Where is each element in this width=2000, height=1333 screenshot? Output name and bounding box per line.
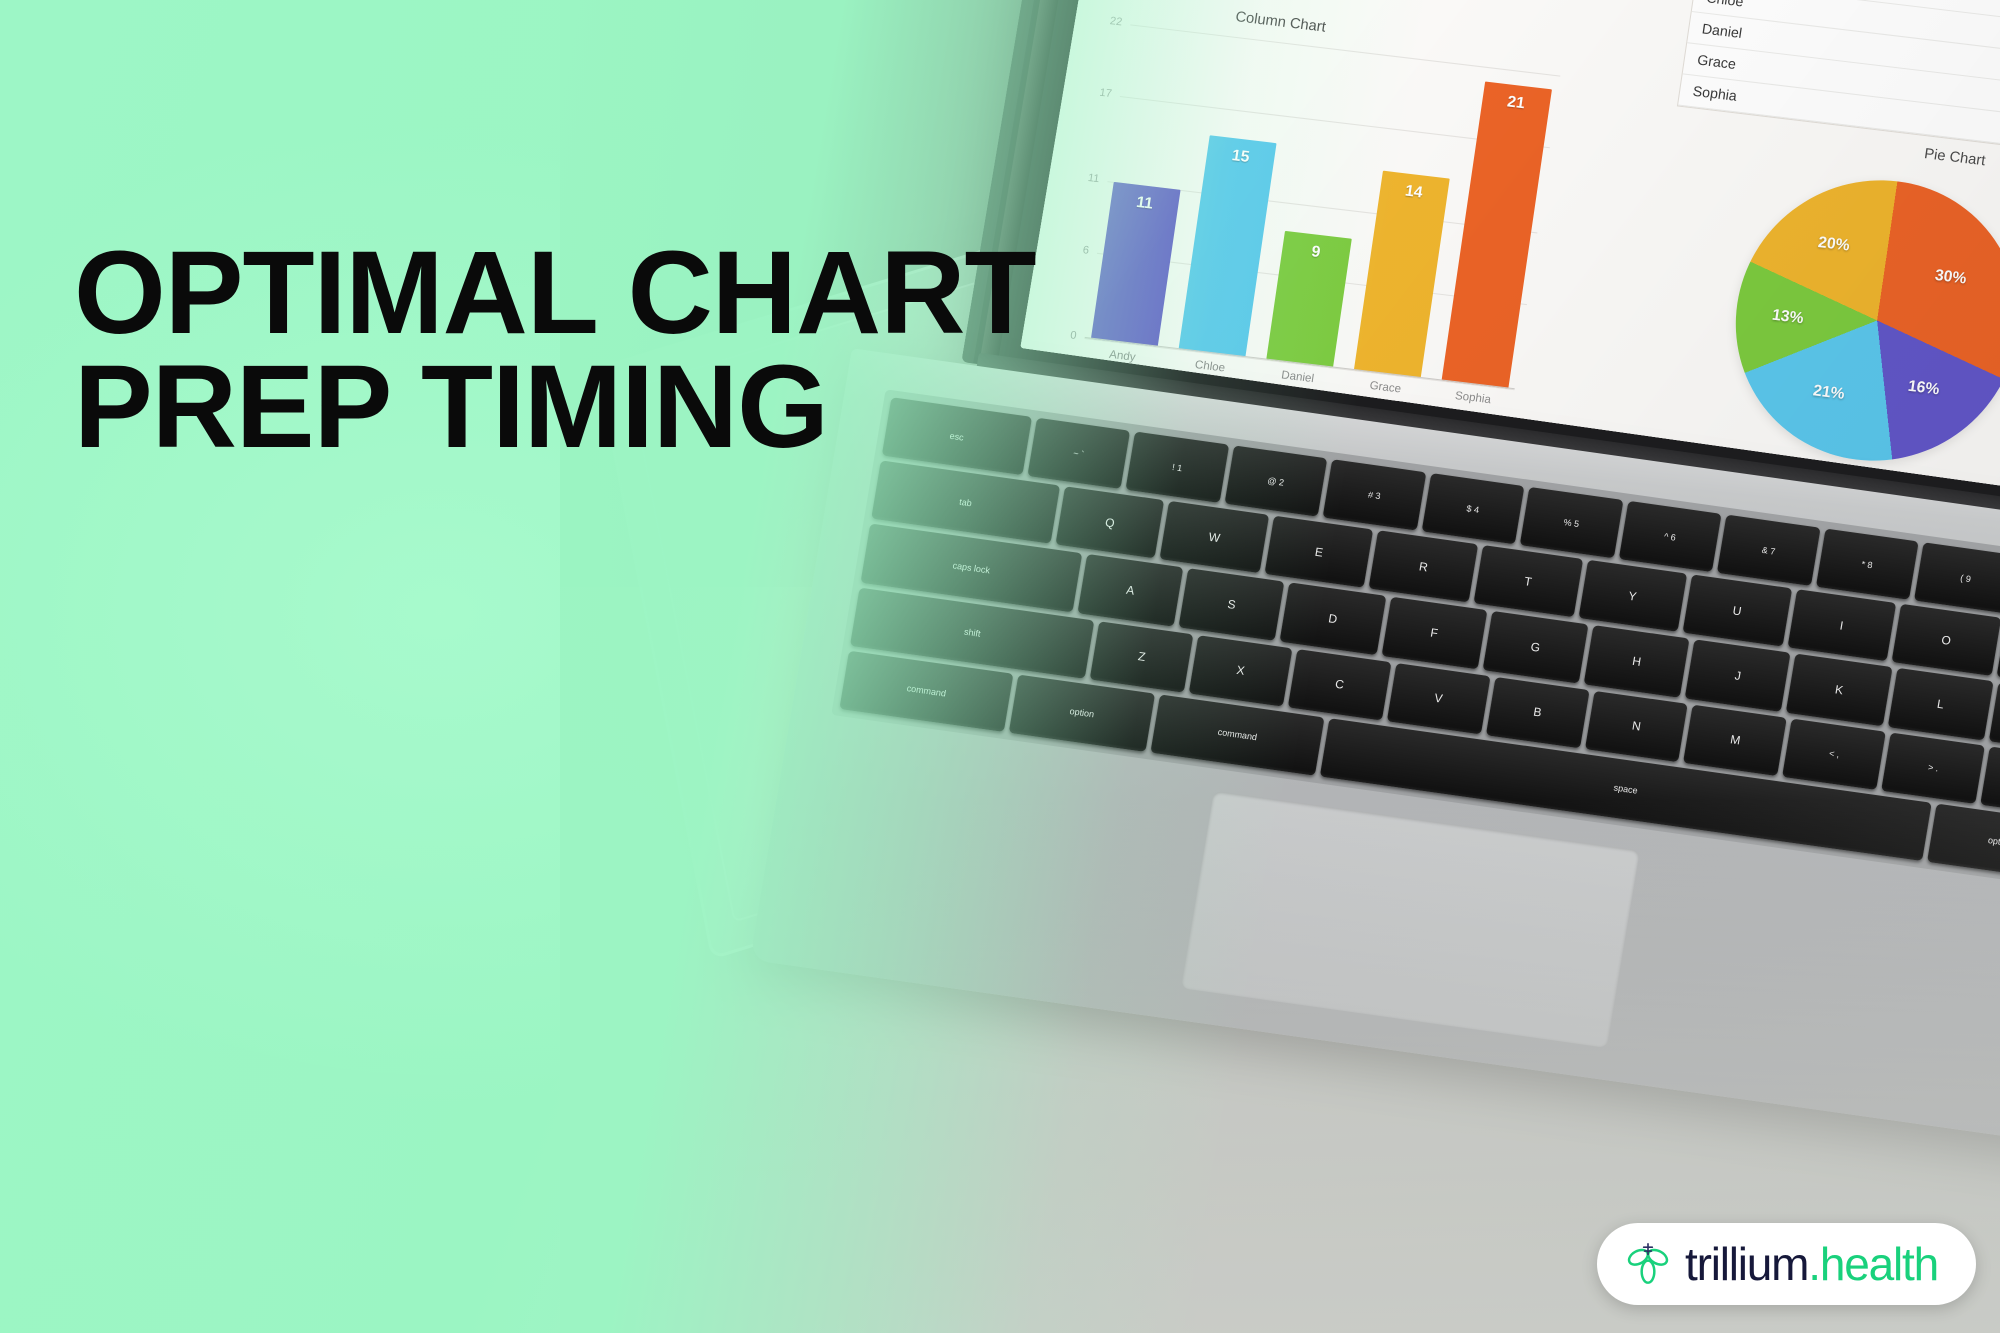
- key-h[interactable]: H: [1584, 625, 1690, 697]
- key-s[interactable]: S: [1179, 569, 1285, 641]
- key-3[interactable]: # 3: [1323, 459, 1426, 531]
- y-axis-tick: 17: [1073, 83, 1112, 100]
- key-k[interactable]: K: [1786, 654, 1892, 726]
- headline-line-2: PREP TIMING: [74, 350, 1036, 464]
- key-x[interactable]: X: [1189, 635, 1293, 707]
- fundraiser-table[interactable]: Fundraiser Results PARTICIPANT Andy Chlo…: [1677, 0, 2000, 152]
- key-j[interactable]: J: [1685, 640, 1791, 712]
- key-9[interactable]: ( 9: [1914, 542, 2000, 614]
- y-axis-tick: 6: [1050, 240, 1089, 257]
- page-title: OPTIMAL CHART PREP TIMING: [74, 236, 1036, 465]
- bar-value-label: 15: [1206, 144, 1275, 170]
- column-chart-plot: 06111722 11Andy15Chloe9Daniel14Grace21So…: [1085, 24, 1561, 389]
- key-m[interactable]: M: [1683, 704, 1787, 776]
- key-c[interactable]: C: [1288, 649, 1392, 721]
- y-axis-tick: 22: [1084, 12, 1123, 29]
- key-6[interactable]: ^ 6: [1618, 501, 1721, 573]
- laptop-device: View Zoom fx ⌄ Formula: [917, 0, 2000, 822]
- key-2[interactable]: @ 2: [1224, 445, 1327, 517]
- key-4[interactable]: $ 4: [1421, 473, 1524, 545]
- key-t[interactable]: T: [1473, 545, 1582, 617]
- key-e[interactable]: E: [1264, 516, 1373, 588]
- logo-text-dark: trillium: [1685, 1238, 1808, 1290]
- pie-chart[interactable]: Pie Chart 30%16%21%13%20%: [1703, 124, 2000, 487]
- x-axis-tick: Sophia: [1439, 388, 1508, 408]
- key-v[interactable]: V: [1387, 663, 1491, 735]
- bar: 15: [1179, 135, 1277, 357]
- key-r[interactable]: R: [1369, 531, 1478, 603]
- column-chart-title: Column Chart: [1234, 7, 1327, 34]
- key-1[interactable]: ! 1: [1126, 432, 1229, 504]
- pie-chart-title: Pie Chart: [1923, 145, 1986, 169]
- key-[interactable]: > .: [1881, 732, 1985, 804]
- key-l[interactable]: L: [1887, 668, 1993, 740]
- logo-text-accent: .health: [1808, 1238, 1938, 1290]
- key-7[interactable]: & 7: [1717, 515, 1820, 587]
- key-[interactable]: < ,: [1782, 718, 1886, 790]
- key-a[interactable]: A: [1077, 554, 1183, 626]
- y-axis-tick: 0: [1038, 325, 1077, 342]
- pie-slice-label: 16%: [1907, 377, 1941, 398]
- y-axis-tick: 11: [1061, 168, 1100, 185]
- key-f[interactable]: F: [1381, 597, 1487, 669]
- column-chart-bars: 11Andy15Chloe9Daniel14Grace21Sophia: [1085, 24, 1561, 389]
- pie-slice-label: 20%: [1817, 233, 1851, 254]
- logo-wordmark: trillium.health: [1685, 1237, 1938, 1291]
- bar: 11: [1091, 182, 1181, 347]
- key-b[interactable]: B: [1486, 677, 1590, 749]
- key-y[interactable]: Y: [1578, 560, 1687, 632]
- pie-slice-label: 13%: [1771, 306, 1805, 327]
- key-[interactable]: ~ `: [1027, 418, 1130, 490]
- brand-logo-badge[interactable]: trillium.health: [1597, 1223, 1976, 1305]
- key-u[interactable]: U: [1682, 575, 1791, 647]
- key-n[interactable]: N: [1585, 690, 1689, 762]
- x-axis-tick: Chloe: [1176, 356, 1245, 376]
- trillium-flower-icon: [1625, 1241, 1671, 1287]
- key-option[interactable]: option: [1009, 674, 1156, 752]
- banner-root: View Zoom fx ⌄ Formula: [0, 0, 2000, 1333]
- headline-line-1: OPTIMAL CHART: [74, 227, 1036, 359]
- x-axis-tick: Daniel: [1263, 367, 1332, 387]
- bar: 14: [1354, 171, 1450, 379]
- bar: 21: [1442, 81, 1552, 388]
- bar-value-label: 9: [1281, 240, 1350, 266]
- key-8[interactable]: * 8: [1815, 528, 1918, 600]
- pie-slice-label: 21%: [1812, 382, 1846, 403]
- key-w[interactable]: W: [1160, 501, 1269, 573]
- key-q[interactable]: Q: [1055, 486, 1164, 558]
- bar: 9: [1266, 231, 1351, 367]
- x-axis-tick: Grace: [1351, 377, 1420, 397]
- key-d[interactable]: D: [1280, 583, 1386, 655]
- laptop-photo: View Zoom fx ⌄ Formula: [560, 0, 2000, 1333]
- bar-value-label: 11: [1110, 190, 1179, 216]
- key-g[interactable]: G: [1482, 611, 1588, 683]
- x-axis-tick: Andy: [1088, 346, 1157, 366]
- bar-value-label: 21: [1481, 89, 1550, 115]
- key-5[interactable]: % 5: [1520, 487, 1623, 559]
- key-o[interactable]: O: [1891, 604, 2000, 676]
- bar-value-label: 14: [1379, 179, 1448, 205]
- pie-slice-label: 30%: [1934, 266, 1968, 287]
- pie-chart-disc: [1717, 165, 2000, 477]
- key-z[interactable]: Z: [1090, 621, 1194, 693]
- key-i[interactable]: I: [1787, 589, 1896, 661]
